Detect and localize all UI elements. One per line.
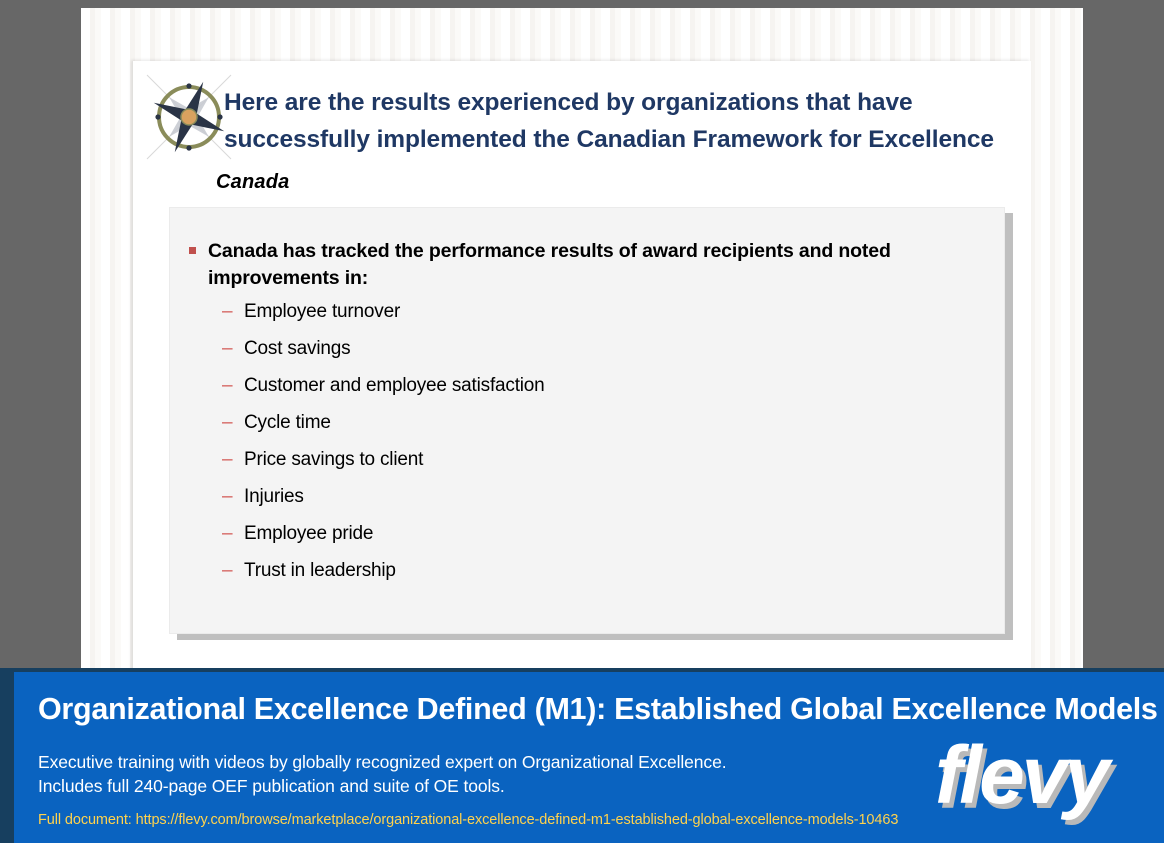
sub-bullet-text: Injuries (244, 486, 304, 507)
sub-bullet-text: Cycle time (244, 412, 331, 433)
square-bullet-icon (189, 247, 196, 254)
promo-title: Organizational Excellence Defined (M1): … (38, 692, 1164, 727)
sub-bullet-text: Employee turnover (244, 301, 400, 322)
sub-bullet-text: Trust in leadership (244, 560, 396, 581)
main-bullet-text: Canada has tracked the performance resul… (208, 240, 891, 289)
sub-bullet-text: Employee pride (244, 523, 373, 544)
sub-bullet-text: Price savings to client (244, 449, 423, 470)
dash-bullet-icon: – (222, 487, 232, 507)
main-bullet-item: Canada has tracked the performance resul… (186, 238, 992, 292)
content-box: Canada has tracked the performance resul… (169, 207, 1005, 634)
sub-bullet-text: Cost savings (244, 338, 350, 359)
promo-subtitle: Executive training with videos by global… (38, 750, 758, 798)
dash-bullet-icon: – (222, 450, 232, 470)
sub-bullet-item: – Cost savings (186, 339, 992, 376)
screenshot-root: Here are the results experienced by orga… (0, 0, 1164, 843)
sub-bullet-item: – Injuries (186, 487, 992, 524)
promo-banner: Organizational Excellence Defined (M1): … (0, 668, 1164, 843)
sub-bullet-item: – Employee turnover (186, 302, 992, 339)
bullet-list: Canada has tracked the performance resul… (186, 238, 992, 598)
dash-bullet-icon: – (222, 339, 232, 359)
compass-rose-icon (141, 69, 237, 165)
sub-bullet-item: – Price savings to client (186, 450, 992, 487)
section-label-canada: Canada (216, 171, 289, 194)
slide-page: Here are the results experienced by orga… (81, 8, 1083, 668)
sub-bullet-item: – Customer and employee satisfaction (186, 376, 992, 413)
sub-bullet-item: – Trust in leadership (186, 561, 992, 598)
dash-bullet-icon: – (222, 302, 232, 322)
sub-bullet-item: – Cycle time (186, 413, 992, 450)
promo-banner-inner: Organizational Excellence Defined (M1): … (14, 672, 1164, 843)
flevy-logo-text: flevy (935, 726, 1107, 826)
slide-content-card: Here are the results experienced by orga… (133, 61, 1031, 668)
slide-headline: Here are the results experienced by orga… (224, 84, 1024, 158)
dash-bullet-icon: – (222, 376, 232, 396)
dash-bullet-icon: – (222, 413, 232, 433)
sub-bullet-item: – Employee pride (186, 524, 992, 561)
dash-bullet-icon: – (222, 561, 232, 581)
sub-bullet-text: Customer and employee satisfaction (244, 375, 545, 396)
dash-bullet-icon: – (222, 524, 232, 544)
flevy-logo[interactable]: flevy flevy (935, 726, 1150, 826)
